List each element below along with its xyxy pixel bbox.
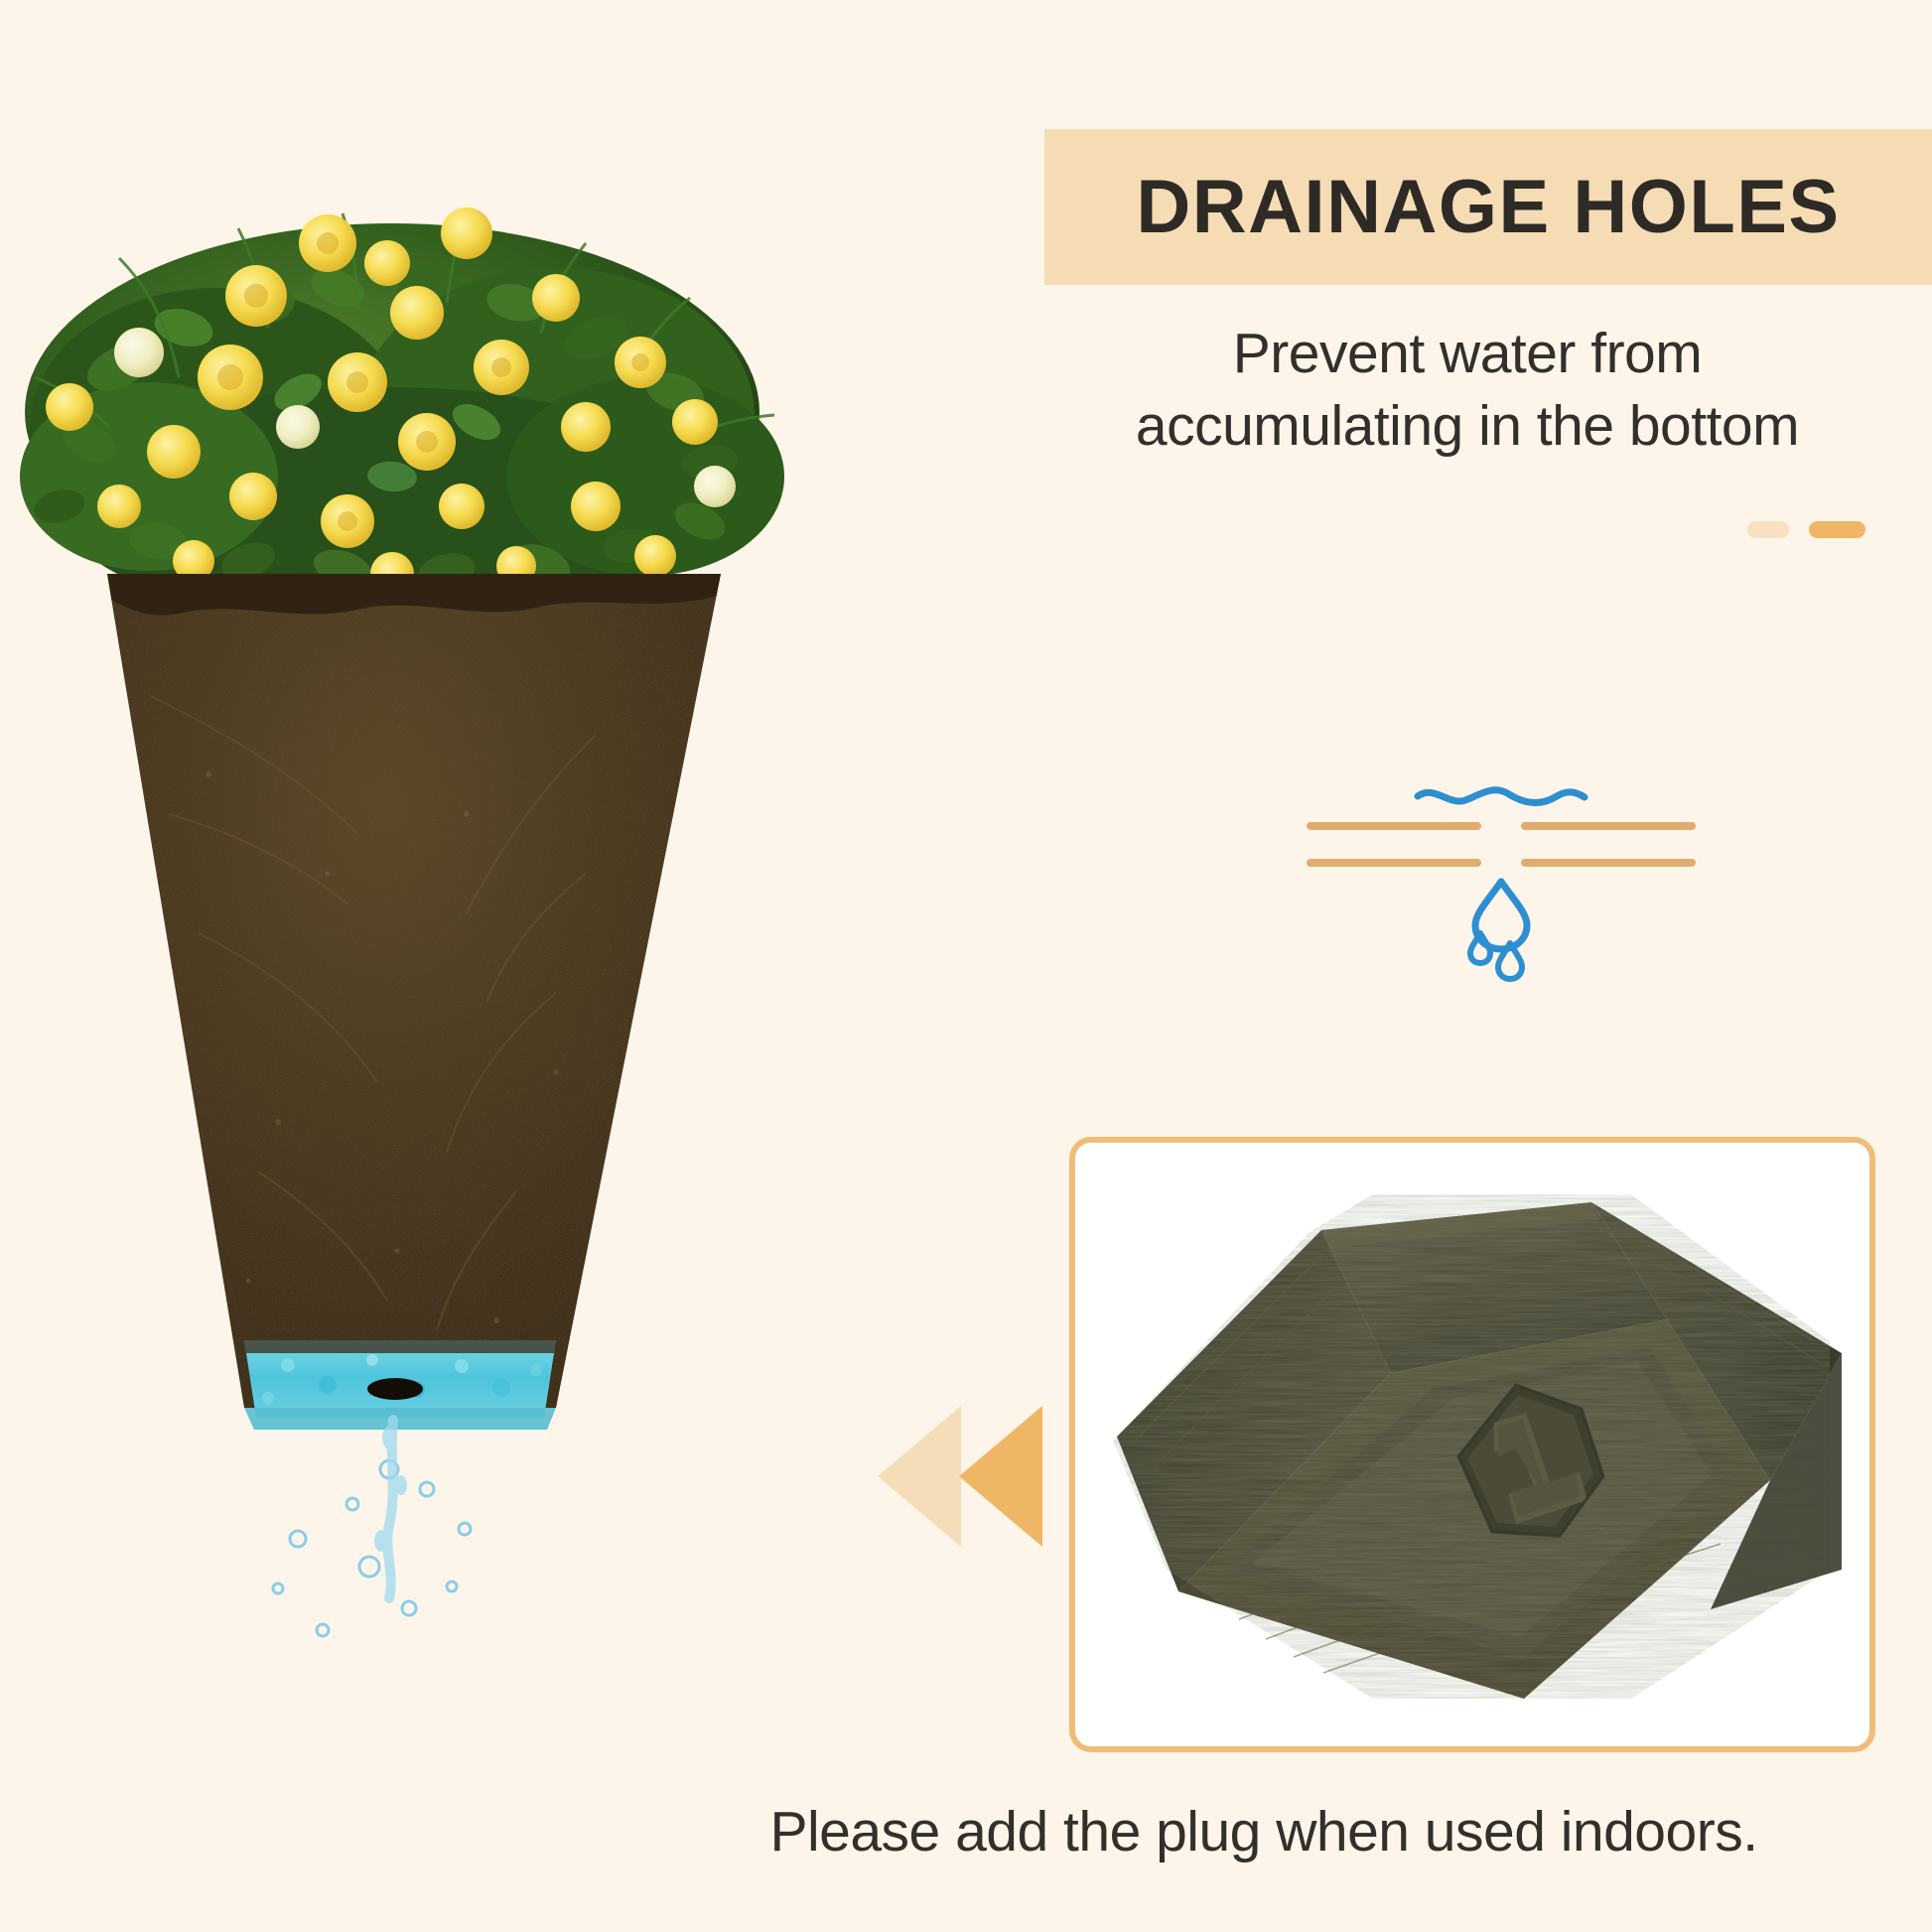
subtitle-line-1: Prevent water from xyxy=(1003,318,1932,390)
infographic-canvas: DRAINAGE HOLES Prevent water from accumu… xyxy=(0,0,1932,1932)
water-splash xyxy=(273,1460,471,1636)
product-detail-panel xyxy=(1069,1137,1875,1752)
footer-caption: Please add the plug when used indoors. xyxy=(596,1799,1932,1864)
double-left-arrow xyxy=(874,1402,1082,1551)
planter-bottom-photo xyxy=(1075,1143,1869,1746)
pagination-dashes[interactable] xyxy=(1747,521,1865,538)
arrow-front-icon xyxy=(959,1406,1042,1547)
page-title: DRAINAGE HOLES xyxy=(1136,164,1840,250)
water-drainage-diagram xyxy=(1281,755,1698,1008)
rose-plant-canopy xyxy=(20,207,784,625)
arrow-back-icon xyxy=(878,1406,961,1547)
soil-cross-section xyxy=(99,566,735,1420)
drip-small-left-icon xyxy=(1470,933,1490,963)
dash-active[interactable] xyxy=(1809,521,1865,538)
dash-inactive[interactable] xyxy=(1747,521,1789,538)
subtitle-block: Prevent water from accumulating in the b… xyxy=(1003,318,1932,463)
surface-line-bottom xyxy=(1307,859,1696,867)
surface-line-top xyxy=(1307,822,1696,830)
water-wave-icon xyxy=(1418,790,1585,803)
title-banner: DRAINAGE HOLES xyxy=(1044,129,1932,285)
planter-cutaway-image xyxy=(0,179,834,1767)
subtitle-line-2: accumulating in the bottom xyxy=(1003,390,1932,463)
drainage-hole xyxy=(367,1378,423,1400)
